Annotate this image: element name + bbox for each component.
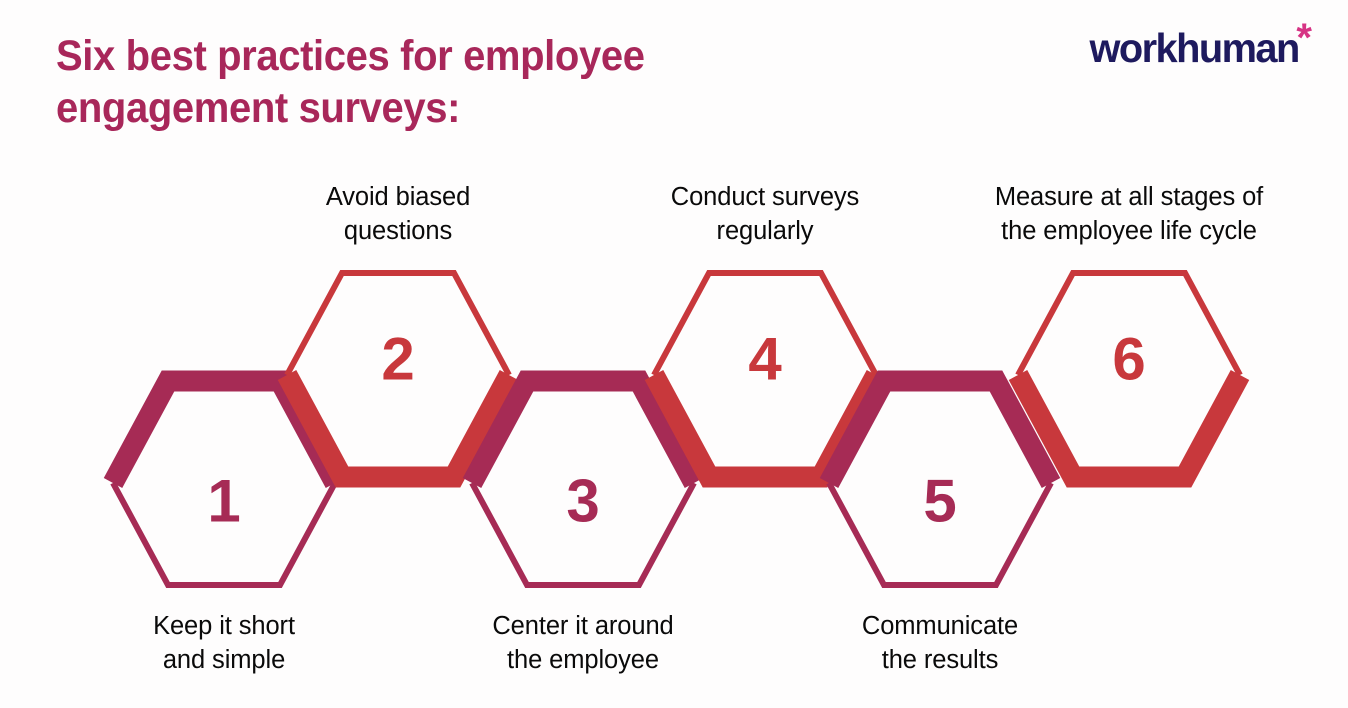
workhuman-logo: workhuman * bbox=[1083, 28, 1312, 78]
hexagon-step-diagram: 123456 Keep it short and simpleAvoid bia… bbox=[0, 150, 1348, 708]
hexagon-number-4: 4 bbox=[748, 326, 782, 393]
hexagon-step-6: 6 bbox=[1018, 273, 1240, 477]
hexagon-step-5: 5 bbox=[829, 381, 1051, 585]
hexagon-step-3: 3 bbox=[472, 381, 694, 585]
step-caption-6: Measure at all stages of the employee li… bbox=[936, 181, 1322, 248]
hexagon-number-5: 5 bbox=[923, 468, 956, 535]
step-caption-3: Center it around the employee bbox=[440, 610, 726, 677]
hexagon-number-3: 3 bbox=[566, 468, 599, 535]
hexagon-number-1: 1 bbox=[207, 468, 240, 535]
step-caption-5: Communicate the results bbox=[812, 610, 1068, 677]
page-title: Six best practices for employee engageme… bbox=[56, 30, 763, 134]
infographic-canvas: Six best practices for employee engageme… bbox=[0, 0, 1348, 708]
step-caption-1: Keep it short and simple bbox=[96, 610, 352, 677]
hexagon-number-2: 2 bbox=[381, 326, 414, 393]
step-caption-2: Avoid biased questions bbox=[270, 181, 526, 248]
hexagon-step-2: 2 bbox=[287, 273, 509, 477]
step-caption-4: Conduct surveys regularly bbox=[622, 181, 908, 248]
logo-wordmark: workhuman bbox=[1089, 28, 1298, 69]
hexagon-number-6: 6 bbox=[1112, 326, 1145, 393]
